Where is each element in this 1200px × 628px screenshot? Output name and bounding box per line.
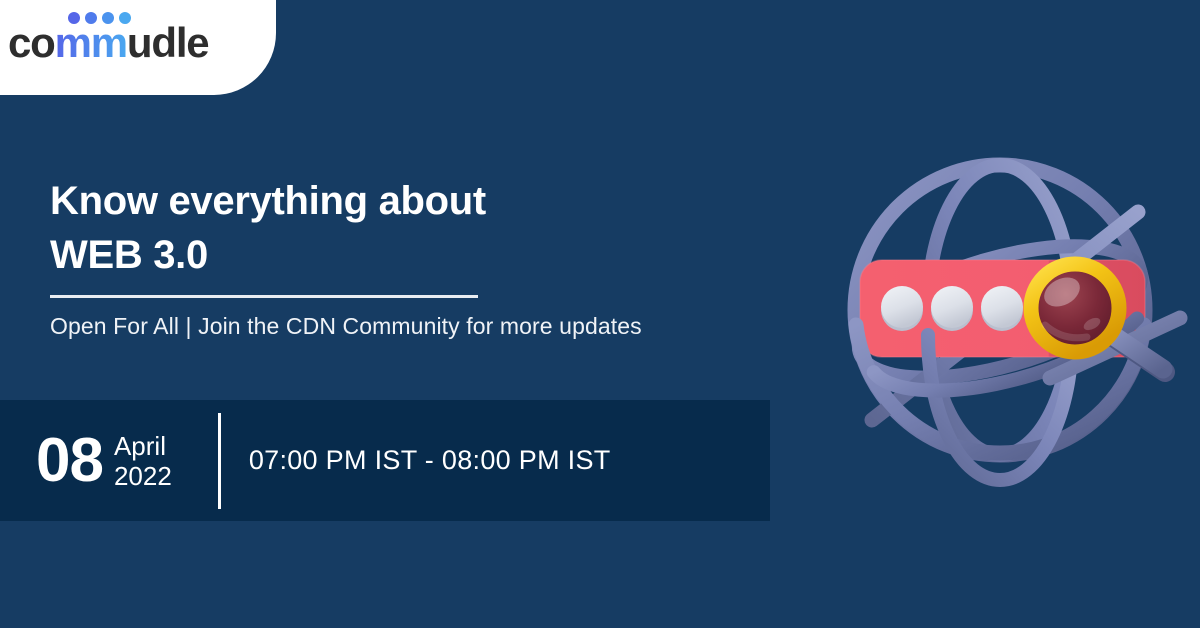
headline-line-1: Know everything about xyxy=(50,174,486,228)
logo-text-part-2: mm xyxy=(55,19,127,66)
subtitle-text: Open For All | Join the CDN Community fo… xyxy=(50,313,642,340)
3d-search-globe-illustration xyxy=(800,120,1200,520)
headline-divider xyxy=(50,295,478,298)
event-date: 08 April 2022 xyxy=(36,430,172,492)
headline-line-2: WEB 3.0 xyxy=(50,228,486,282)
event-month-year: April 2022 xyxy=(114,431,172,491)
commudle-logo[interactable]: commudle xyxy=(8,12,234,68)
search-bar-button-1 xyxy=(881,286,923,328)
logo-wordmark: commudle xyxy=(8,18,208,68)
event-banner: commudle Know everything about WEB 3.0 O… xyxy=(0,0,1200,628)
headline-block: Know everything about WEB 3.0 xyxy=(50,174,486,282)
logo-text-part-1: co xyxy=(8,19,55,66)
datetime-vertical-divider xyxy=(218,413,221,509)
event-month: April xyxy=(114,431,172,461)
event-day: 08 xyxy=(36,430,103,492)
event-year: 2022 xyxy=(114,461,172,491)
event-datetime-strip: 08 April 2022 07:00 PM IST - 08:00 PM IS… xyxy=(0,400,770,521)
logo-plate: commudle xyxy=(0,0,276,95)
search-bar-buttons xyxy=(881,286,1023,331)
search-bar-button-2 xyxy=(931,286,973,328)
logo-text-part-3: udle xyxy=(127,19,209,66)
event-time-range: 07:00 PM IST - 08:00 PM IST xyxy=(249,445,611,476)
search-bar-button-3 xyxy=(981,286,1023,328)
